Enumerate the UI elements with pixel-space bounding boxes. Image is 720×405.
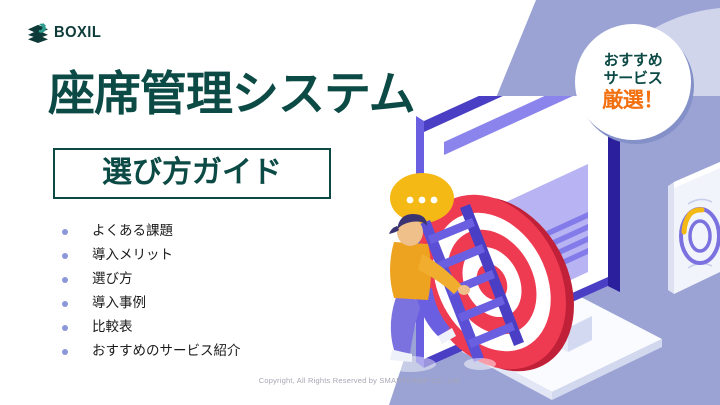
floating-card-right <box>668 162 720 294</box>
list-item-label: 導入事例 <box>92 297 146 311</box>
subtitle-box: 選び方ガイド <box>53 148 331 199</box>
list-item-label: 導入メリット <box>92 249 173 263</box>
subtitle-text: 選び方ガイド <box>102 158 282 188</box>
hero-illustration <box>372 96 720 405</box>
list-item[interactable]: 比較表 <box>62 317 241 339</box>
badge-line-1: おすすめ <box>604 52 663 69</box>
badge-line-3: 厳選！ <box>602 89 664 112</box>
badge-content: おすすめ サービス 厳選！ <box>575 24 691 140</box>
bullet-dot-icon <box>62 253 68 259</box>
list-item-label: 選び方 <box>92 273 133 287</box>
bullet-dot-icon <box>62 277 68 283</box>
page-title: 座席管理システム <box>48 71 415 118</box>
bullet-dot-icon <box>62 349 68 355</box>
copyright-footer: Copyright, All Rights Reserved by SMARTC… <box>0 376 720 385</box>
list-item[interactable]: 導入メリット <box>62 245 241 267</box>
brand-logo-text: BOXIL <box>54 25 101 41</box>
list-item-label: よくある課題 <box>92 225 173 239</box>
table-of-contents: よくある課題 導入メリット 選び方 導入事例 比較表 おすすめのサービス紹介 <box>62 221 241 363</box>
list-item[interactable]: 選び方 <box>62 269 241 291</box>
recommended-badge: おすすめ サービス 厳選！ <box>575 24 691 140</box>
list-item[interactable]: よくある課題 <box>62 221 241 243</box>
bullet-dot-icon <box>62 301 68 307</box>
list-item[interactable]: おすすめのサービス紹介 <box>62 341 241 363</box>
brand-logo[interactable]: BOXIL <box>27 22 105 44</box>
badge-line-2: サービス <box>604 70 663 87</box>
slide-canvas: BOXIL 座席管理システム 選び方ガイド よくある課題 導入メリット 選び方 … <box>0 0 720 405</box>
list-item-label: 比較表 <box>92 321 133 335</box>
stacked-layers-icon <box>27 23 49 43</box>
bullet-dot-icon <box>62 229 68 235</box>
list-item[interactable]: 導入事例 <box>62 293 241 315</box>
bullet-dot-icon <box>62 325 68 331</box>
list-item-label: おすすめのサービス紹介 <box>92 345 241 359</box>
